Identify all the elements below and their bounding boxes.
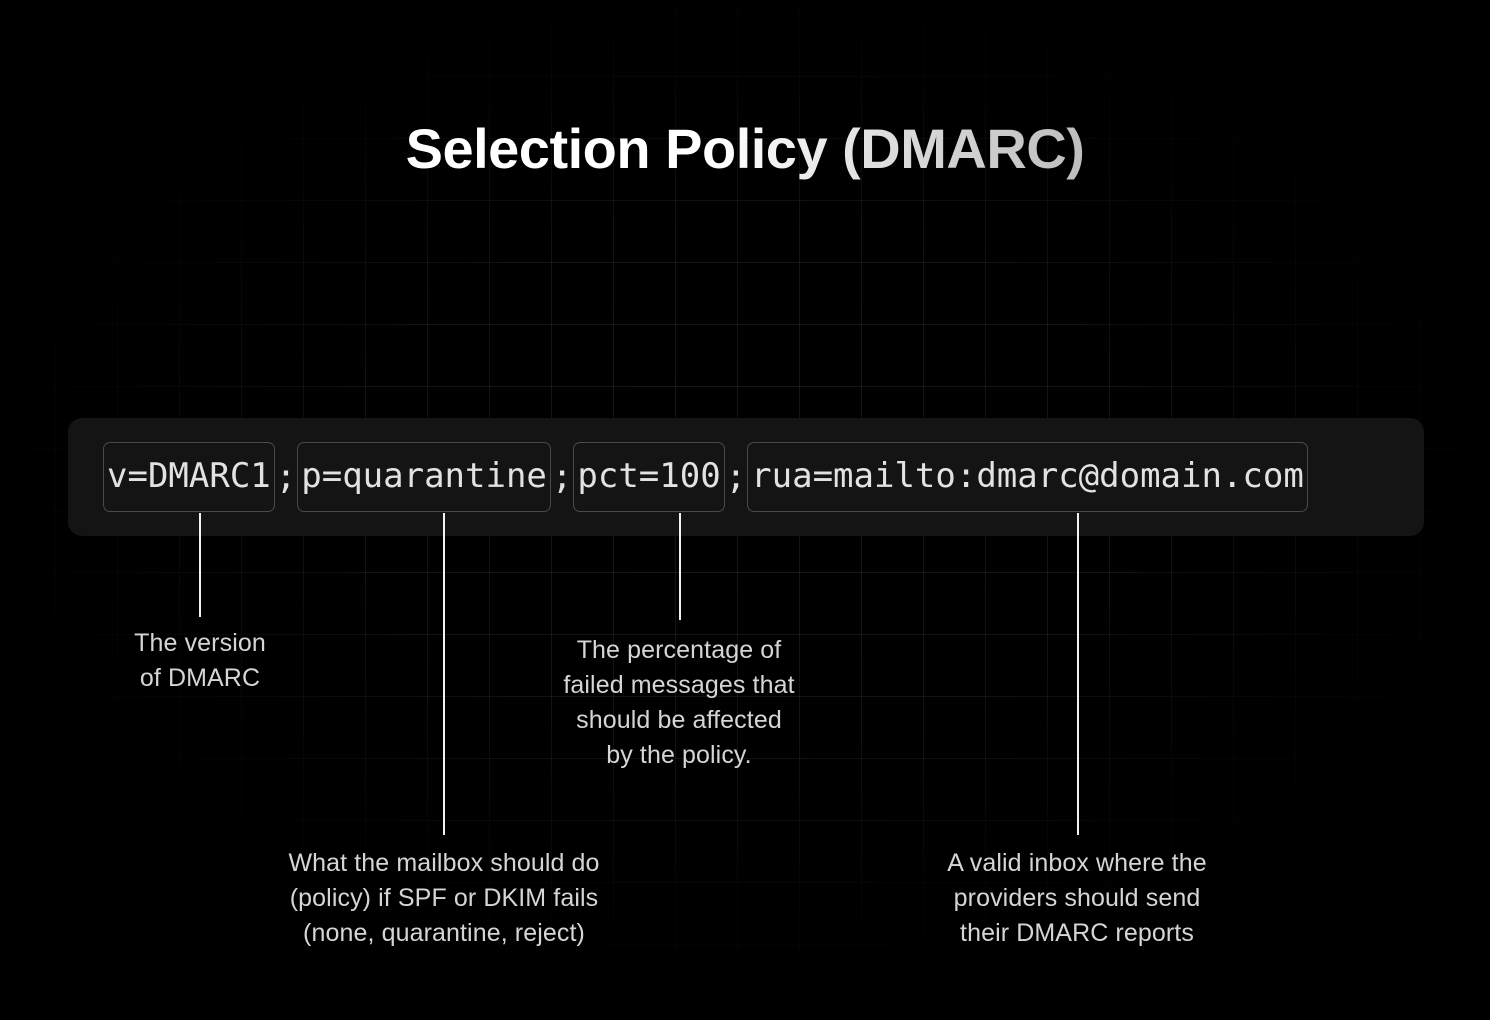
dmarc-record-string: v=DMARC1 ; p=quarantine ; pct=100 ; rua=… <box>103 442 1308 512</box>
connector-line-percent <box>679 513 681 620</box>
connector-line-policy <box>443 513 445 835</box>
tag-separator: ; <box>725 460 747 494</box>
dmarc-tag-percent[interactable]: pct=100 <box>573 442 724 512</box>
dmarc-tag-reporting[interactable]: rua=mailto:dmarc@domain.com <box>747 442 1308 512</box>
annotation-percentage: The percentage of failed messages that s… <box>489 633 869 773</box>
dmarc-tag-version[interactable]: v=DMARC1 <box>103 442 275 512</box>
annotation-reporting-inbox: A valid inbox where the providers should… <box>867 846 1287 951</box>
dmarc-record-panel: v=DMARC1 ; p=quarantine ; pct=100 ; rua=… <box>68 418 1424 536</box>
connector-line-version <box>199 513 201 617</box>
annotation-mailbox-policy: What the mailbox should do (policy) if S… <box>204 846 684 951</box>
page-title: Selection Policy (DMARC) <box>0 117 1490 181</box>
annotation-version-of-dmarc: The version of DMARC <box>60 626 340 696</box>
tag-separator: ; <box>551 460 573 494</box>
connector-line-reporting <box>1077 513 1079 835</box>
tag-separator: ; <box>275 460 297 494</box>
dmarc-tag-policy[interactable]: p=quarantine <box>297 442 551 512</box>
